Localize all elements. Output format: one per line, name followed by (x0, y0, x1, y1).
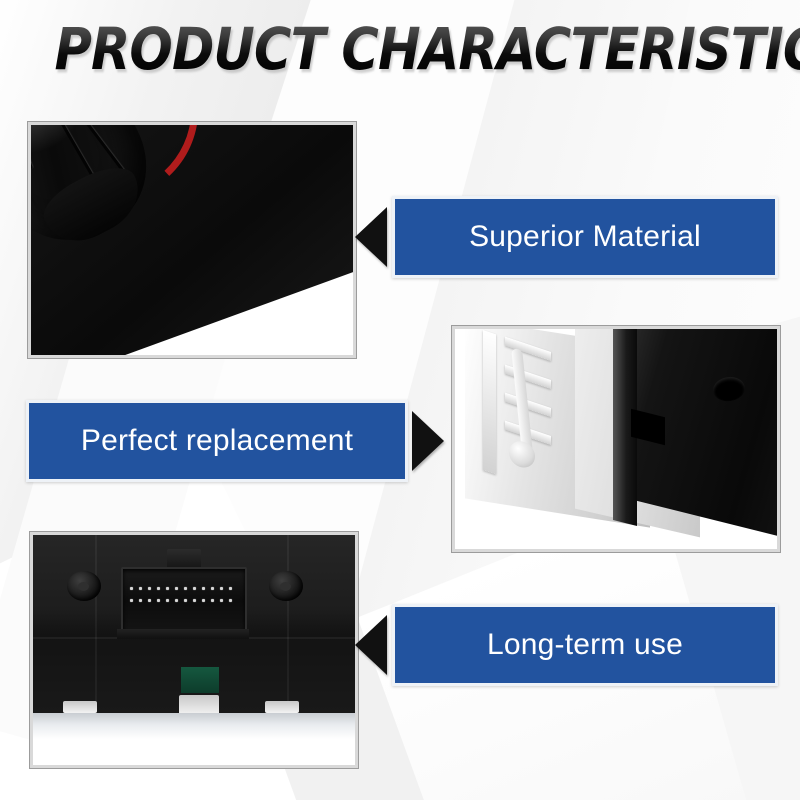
housing-seam (287, 535, 289, 713)
retaining-clip (63, 701, 97, 713)
feature-banner-long-term-use[interactable]: Long-term use (392, 604, 778, 686)
connector-pin (139, 599, 142, 602)
retaining-clip (179, 695, 219, 715)
knob-ridge (28, 122, 33, 169)
housing-rib (505, 365, 551, 389)
connector-pin (166, 587, 169, 590)
rear-housing (33, 535, 355, 713)
connector-pin (175, 599, 178, 602)
circuit-board-edge (181, 667, 219, 693)
connector-pin (157, 587, 160, 590)
connector-pin (139, 587, 142, 590)
feature-banner-perfect-replacement[interactable]: Perfect replacement (26, 400, 408, 482)
connector-pin (166, 599, 169, 602)
product-characteristics-poster: PRODUCT CHARACTERISTICS (0, 0, 800, 800)
connector-pin (184, 587, 187, 590)
mounting-boss (269, 571, 303, 601)
connector-pin (229, 587, 232, 590)
connector-pin (157, 599, 160, 602)
connector-pin (193, 599, 196, 602)
photo-canvas (455, 329, 777, 549)
housing-seam (95, 535, 97, 713)
connector-tab (167, 549, 201, 569)
arrow-left-icon (355, 615, 387, 675)
connector-pin (220, 587, 223, 590)
connector-pin (175, 587, 178, 590)
page-title: PRODUCT CHARACTERISTICS (54, 18, 800, 80)
wiring-connector (121, 567, 247, 635)
connector-pin (130, 599, 133, 602)
page-title-wrap: PRODUCT CHARACTERISTICS (0, 18, 800, 80)
knob-ridge (38, 122, 111, 205)
connector-pin (202, 599, 205, 602)
connector-pin (229, 599, 232, 602)
climate-control-knob-photo (28, 122, 356, 358)
rear-connector-photo (30, 532, 358, 768)
connector-pin (193, 587, 196, 590)
bottom-trim-strip (33, 713, 355, 739)
feature-banner-superior-material[interactable]: Superior Material (392, 196, 778, 278)
connector-pin (130, 587, 133, 590)
connector-pin (202, 587, 205, 590)
photo-canvas (33, 535, 355, 765)
feature-label: Superior Material (395, 220, 775, 254)
retaining-clip (265, 701, 299, 713)
connector-pin (211, 599, 214, 602)
housing-rib (483, 330, 496, 474)
connector-skirt (117, 629, 249, 639)
connector-pin (148, 587, 151, 590)
mounting-boss (67, 571, 101, 601)
photo-canvas (31, 125, 353, 355)
connector-pin (184, 599, 187, 602)
arrow-right-icon (412, 411, 444, 471)
arrow-left-icon (355, 207, 387, 267)
connector-pin (148, 599, 151, 602)
connector-pin (220, 599, 223, 602)
side-profile-photo (452, 326, 780, 552)
connector-pin (211, 587, 214, 590)
control-panel-face (28, 122, 356, 358)
feature-label: Perfect replacement (29, 424, 405, 458)
connector-pin-grid (130, 587, 238, 602)
feature-label: Long-term use (395, 628, 775, 662)
